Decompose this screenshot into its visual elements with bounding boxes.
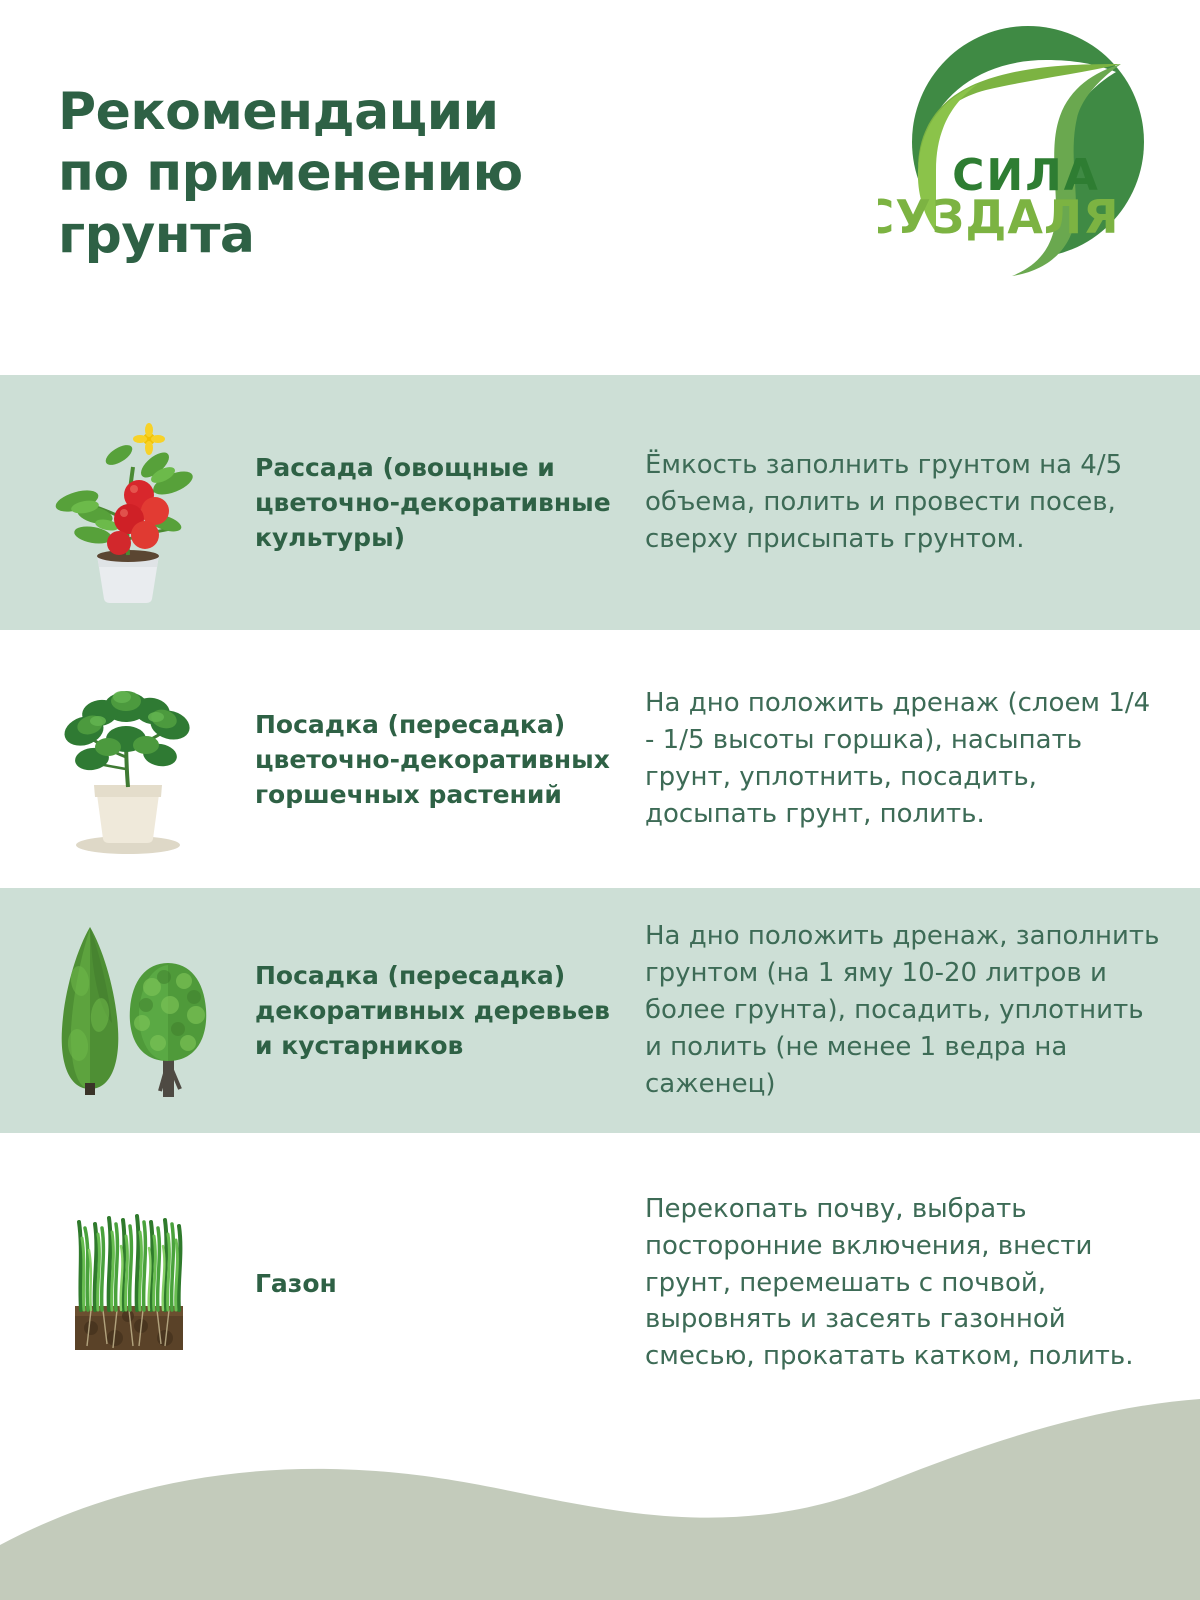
row-lawn-title: Газон [255,1266,645,1301]
row-seedlings: Рассада (овощные и цветочно-декоративные… [0,375,1200,630]
row-lawn: Газон Перекопать почву, выбрать посторон… [0,1133,1200,1433]
row-seedlings-description: Ёмкость заполнить грунтом на 4/5 объема,… [645,447,1200,558]
row-lawn-description: Перекопать почву, выбрать посторонние вк… [645,1191,1200,1376]
page-header: Рекомендации по применению грунта СИЛА С… [0,0,1200,375]
infographic-page: Рекомендации по применению грунта СИЛА С… [0,0,1200,1600]
potted-plant-icon [38,659,218,859]
row-trees-shrubs-title: Посадка (пересадка) декоративных деревье… [255,958,645,1063]
row-trees-shrubs: Посадка (пересадка) декоративных деревье… [0,888,1200,1133]
recommendation-rows: Рассада (овощные и цветочно-декоративные… [0,375,1200,1433]
logo-graphic: СИЛА СУЗДАЛЯ [878,18,1158,286]
row-lawn-media [0,1133,255,1433]
brand-logo: СИЛА СУЗДАЛЯ СИЛА СУЗДАЛЯ [878,18,1158,286]
row-potted-plants-media [0,630,255,888]
page-title: Рекомендации по применению грунта [58,82,678,266]
row-trees-shrubs-description: На дно положить дренаж, заполнить грунто… [645,918,1200,1103]
row-potted-plants: Посадка (пересадка) цветочно-декоративны… [0,630,1200,888]
row-potted-plants-description: На дно положить дренаж (слоем 1/4 - 1/5 … [645,685,1200,833]
tomato-seedling-icon [33,403,223,603]
row-seedlings-media [0,375,255,630]
row-trees-shrubs-media [0,888,255,1133]
lawn-turf-icon [33,1188,223,1378]
logo-line-2: СУЗДАЛЯ [878,190,1120,244]
row-potted-plants-title: Посадка (пересадка) цветочно-декоративны… [255,707,645,812]
trees-shrubs-icon [28,911,228,1111]
row-seedlings-title: Рассада (овощные и цветочно-декоративные… [255,450,645,555]
